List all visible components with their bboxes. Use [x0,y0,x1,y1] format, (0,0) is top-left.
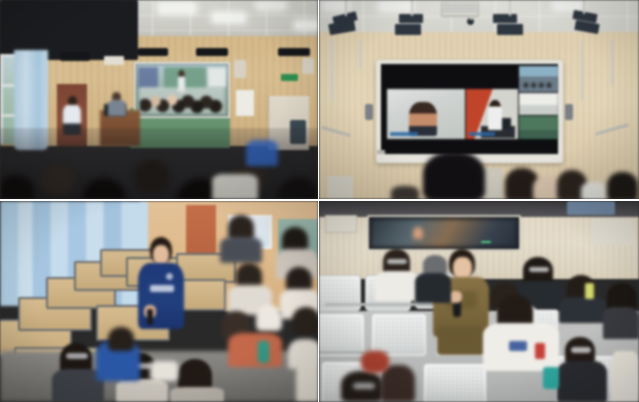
microphone-icon [147,309,153,325]
exit-sign-icon [281,74,298,81]
projector-icon [497,24,523,35]
audience-head [391,186,419,199]
photo-collage [0,0,639,402]
collage-panel-bottom-right [319,201,639,402]
yellow-bottle [585,283,594,299]
status-indicator [481,241,491,243]
audience-head [607,172,638,199]
standing-student-lower [437,327,485,355]
side-cabinet [327,176,353,199]
seated-person-orange-top [228,333,282,367]
ceiling-light [555,2,581,8]
jersey-print [150,285,174,292]
monitor-person [413,227,423,239]
display-control-button[interactable] [377,150,385,154]
remote-students [140,87,225,113]
seated-person-head [292,307,318,335]
white-cup [625,373,639,395]
wall-panel [325,215,357,233]
foreground-head [381,365,415,402]
student-question-scene [0,201,318,402]
foreground-student-body [170,387,224,402]
seated-person-body [220,237,262,263]
mount-rod [583,0,585,14]
ceiling-light [381,2,411,9]
wall-speaker-icon [234,60,246,78]
seated-person-head [256,305,282,331]
audience-light-shirt [212,174,258,199]
eyeglasses-icon [571,347,591,353]
foreground-student-body [116,379,168,402]
monitor-video-content [371,219,517,247]
control-panel-icon [104,56,124,65]
thermos-bottle [258,341,269,363]
seated-student-body [559,297,607,323]
led-video-wall [381,64,558,154]
speaker-box-icon [138,48,168,56]
green-cup [543,367,559,389]
backpack [150,361,178,381]
wall-rod [581,40,583,100]
seated-student-cap [423,255,447,275]
audience-shoulder [581,182,607,199]
auditorium-seat [423,363,487,402]
participant-name-label [390,132,418,136]
ceiling-light [258,2,284,8]
remote-participant-left [409,102,437,136]
audience-blue-shirt [246,140,278,166]
projector-icon [395,24,421,35]
mount-rod [411,0,413,16]
mount-rod [509,0,511,16]
mount-rod [345,0,347,16]
shirt-logo [509,341,527,351]
standing-student-face [153,245,169,265]
standing-student-jersey [138,263,184,329]
participant-name-label [469,132,495,136]
seated-student-body [415,273,451,303]
wall-speaker-icon [565,104,573,120]
camera-rod [470,14,472,20]
eyeglasses-icon [387,259,407,264]
wall-notice [236,90,254,116]
video-tile-remote-3 [519,116,558,139]
red-can [535,343,545,359]
wall-speaker-icon [302,58,314,74]
remote-audience-dots [521,78,556,90]
remote-window [138,67,158,88]
student-head [108,327,134,351]
air-conditioner-vents [443,5,477,14]
red-garment [361,351,389,373]
seated-person-body [296,361,318,402]
wall-speaker-icon [365,104,373,120]
ceiling-light [296,22,318,28]
collage-panel-bottom-left [0,201,319,402]
speaker-in-video [488,100,502,130]
presenter-body [108,100,126,116]
projection-screen [134,62,230,118]
projector-icon [60,52,90,61]
eyeglasses-icon [66,353,88,359]
eyeglasses-icon [353,383,375,389]
ceiling-light [160,4,194,12]
jersey-logo [166,273,173,280]
wall-rod [331,40,333,102]
tablet-screen [567,201,615,215]
collage-panel-top-left [0,0,319,201]
auditorium-question-scene [319,201,639,402]
seated-student-body [375,271,419,301]
audience-head-foreground [423,152,485,199]
seated-student-body [603,307,639,339]
projector-mount-icon [493,14,517,23]
speaker-box-icon [278,48,310,56]
remote-whiteboard [208,68,226,87]
wall-panel [591,219,633,245]
eyeglasses-icon [529,267,549,272]
collage-panel-top-right [319,0,639,201]
speaker-box-icon [196,48,228,56]
seated-student-body [557,361,607,402]
lecture-hall-scene [0,0,318,199]
wall-rod [359,40,361,70]
video-conference-room-scene [319,0,639,199]
wall-rod [611,40,613,86]
wall-monitor [367,215,521,251]
ceiling-light [214,14,244,21]
ceiling-light [325,2,347,8]
video-tile-remote-2 [519,93,558,115]
